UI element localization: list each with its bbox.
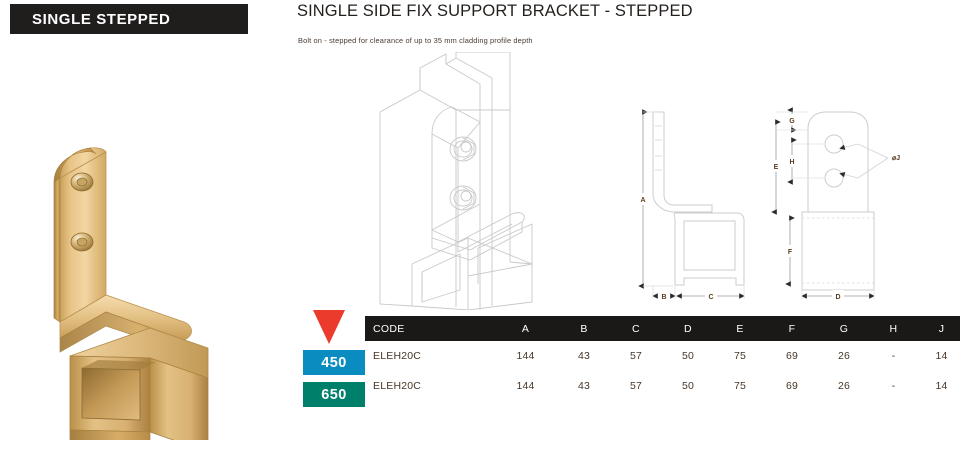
cell-code: ELEH20C	[365, 341, 493, 371]
banner-label: SINGLE STEPPED	[32, 11, 170, 28]
cell-c: 57	[610, 341, 662, 371]
column-header-h: H	[870, 316, 917, 341]
table-row[interactable]: ELEH20C 144 43 57 50 75 69 26 - 14	[365, 341, 960, 371]
table-row[interactable]: ELEH20C 144 43 57 50 75 69 26 - 14	[365, 371, 960, 401]
cell-j: 14	[917, 371, 960, 401]
cell-e: 75	[714, 341, 766, 371]
dimension-label-g: G	[789, 118, 795, 125]
product-photo	[8, 120, 248, 440]
cell-g: 26	[818, 371, 870, 401]
front-elevation-drawing: E G H F D ⌀J	[762, 100, 912, 305]
single-stepped-banner: SINGLE STEPPED	[10, 4, 248, 34]
cell-e: 75	[714, 371, 766, 401]
column-header-a: A	[493, 316, 558, 341]
page-title: SINGLE SIDE FIX SUPPORT BRACKET - STEPPE…	[297, 2, 693, 21]
column-header-d: D	[662, 316, 714, 341]
cell-b: 43	[558, 371, 610, 401]
cell-d: 50	[662, 341, 714, 371]
column-header-e: E	[714, 316, 766, 341]
isometric-assembly-drawing	[360, 52, 570, 310]
size-badge-650-label: 650	[321, 387, 346, 403]
cell-f: 69	[766, 341, 818, 371]
cell-code: ELEH20C	[365, 371, 493, 401]
cell-c: 57	[610, 371, 662, 401]
cell-a: 144	[493, 371, 558, 401]
dimension-label-a: A	[640, 197, 645, 204]
size-badge-450[interactable]: 450	[303, 350, 365, 375]
table-header-row: CODE A B C D E F G H J	[365, 316, 960, 341]
cell-f: 69	[766, 371, 818, 401]
dimension-label-e: E	[774, 164, 779, 171]
dimension-label-f: F	[788, 249, 793, 256]
column-header-j: J	[917, 316, 960, 341]
column-header-g: G	[818, 316, 870, 341]
cell-h: -	[870, 371, 917, 401]
dimension-label-c: C	[708, 294, 713, 301]
dimension-label-h: H	[789, 159, 794, 166]
dimension-label-b: B	[661, 294, 666, 301]
cell-d: 50	[662, 371, 714, 401]
column-header-f: F	[766, 316, 818, 341]
cell-g: 26	[818, 341, 870, 371]
page-subtitle: Bolt on - stepped for clearance of up to…	[298, 36, 533, 45]
hole-diameter-callout: ⌀J	[892, 155, 900, 162]
column-header-b: B	[558, 316, 610, 341]
dimension-label-d: D	[835, 294, 840, 301]
cell-h: -	[870, 341, 917, 371]
red-triangle-marker	[313, 310, 345, 344]
cell-j: 14	[917, 341, 960, 371]
side-elevation-drawing: A B C	[615, 100, 770, 305]
cell-b: 43	[558, 341, 610, 371]
column-header-c: C	[610, 316, 662, 341]
cell-a: 144	[493, 341, 558, 371]
column-header-code: CODE	[365, 316, 493, 341]
size-badge-450-label: 450	[321, 355, 346, 371]
size-badge-650[interactable]: 650	[303, 382, 365, 407]
specification-table: CODE A B C D E F G H J ELEH20C 144 43 57…	[365, 316, 956, 401]
